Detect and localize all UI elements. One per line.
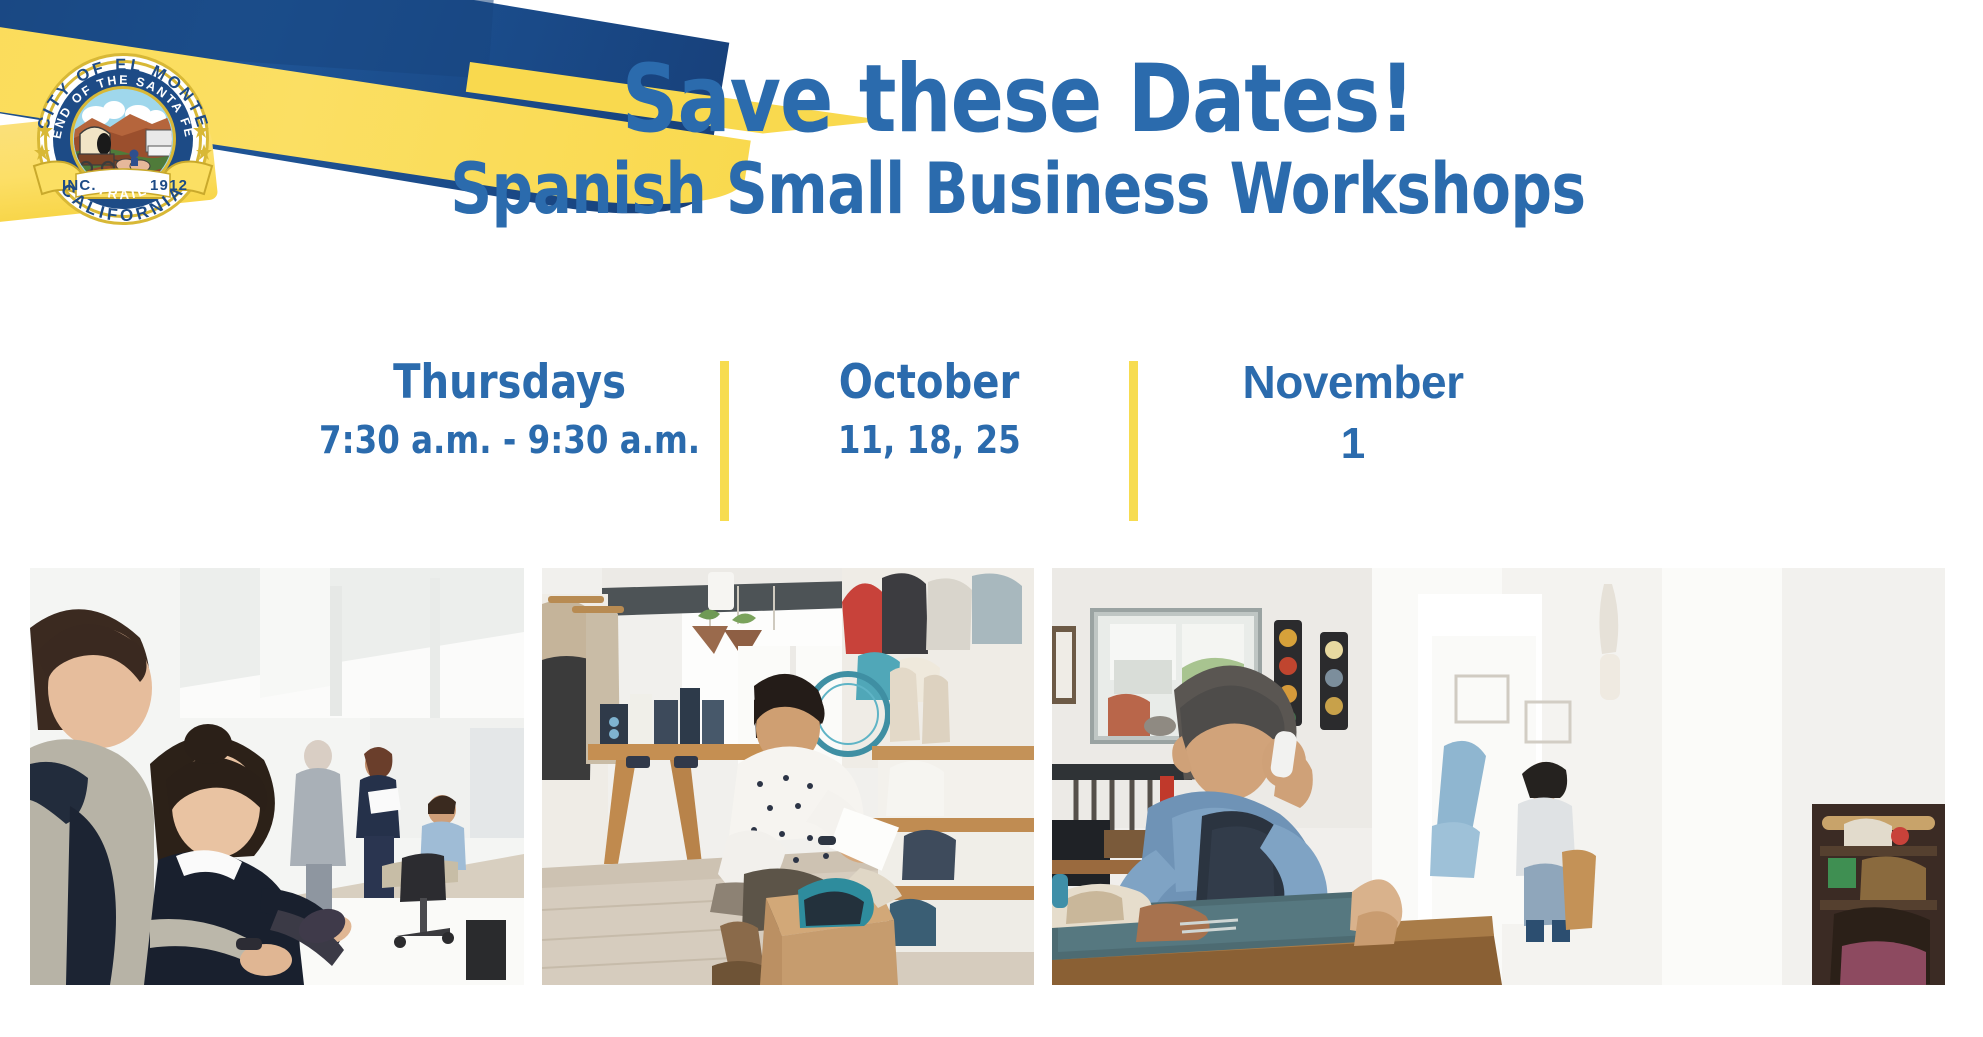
schedule-days-detail: 7:30 a.m. - 9:30 a.m.: [319, 411, 700, 470]
schedule-column-days: Thursdays 7:30 a.m. - 9:30 a.m.: [300, 352, 720, 470]
seal-banner-left-text: INC.: [62, 177, 97, 194]
page-title: Save these Dates!: [293, 52, 1744, 148]
schedule-column-october: October 11, 18, 25: [729, 352, 1129, 470]
schedule-column-november: November 1: [1138, 352, 1568, 478]
schedule-october-detail: 11, 18, 25: [838, 411, 1021, 470]
photo-office-pair: [30, 568, 524, 985]
schedule-november-heading: November: [1243, 354, 1464, 410]
schedule-divider-1: [720, 361, 729, 521]
headline-block: Save these Dates! Spanish Small Business…: [238, 52, 1798, 230]
photo-strip: [30, 568, 1945, 985]
city-seal: CITY OF EL MONTE END OF THE SANTA FE CAL…: [18, 34, 228, 244]
schedule-october-heading: October: [839, 354, 1020, 411]
schedule-days-heading: Thursdays: [394, 354, 627, 411]
seal-banner-right-text: 1912: [150, 177, 188, 194]
photo-workshop-phone: [1052, 568, 1945, 985]
schedule-november-detail: 1: [1341, 410, 1365, 478]
page-subtitle: Spanish Small Business Workshops: [300, 148, 1735, 231]
schedule-strip: Thursdays 7:30 a.m. - 9:30 a.m. October …: [300, 352, 1680, 532]
photo-shop-unboxing: [542, 568, 1034, 985]
schedule-divider-2: [1129, 361, 1138, 521]
